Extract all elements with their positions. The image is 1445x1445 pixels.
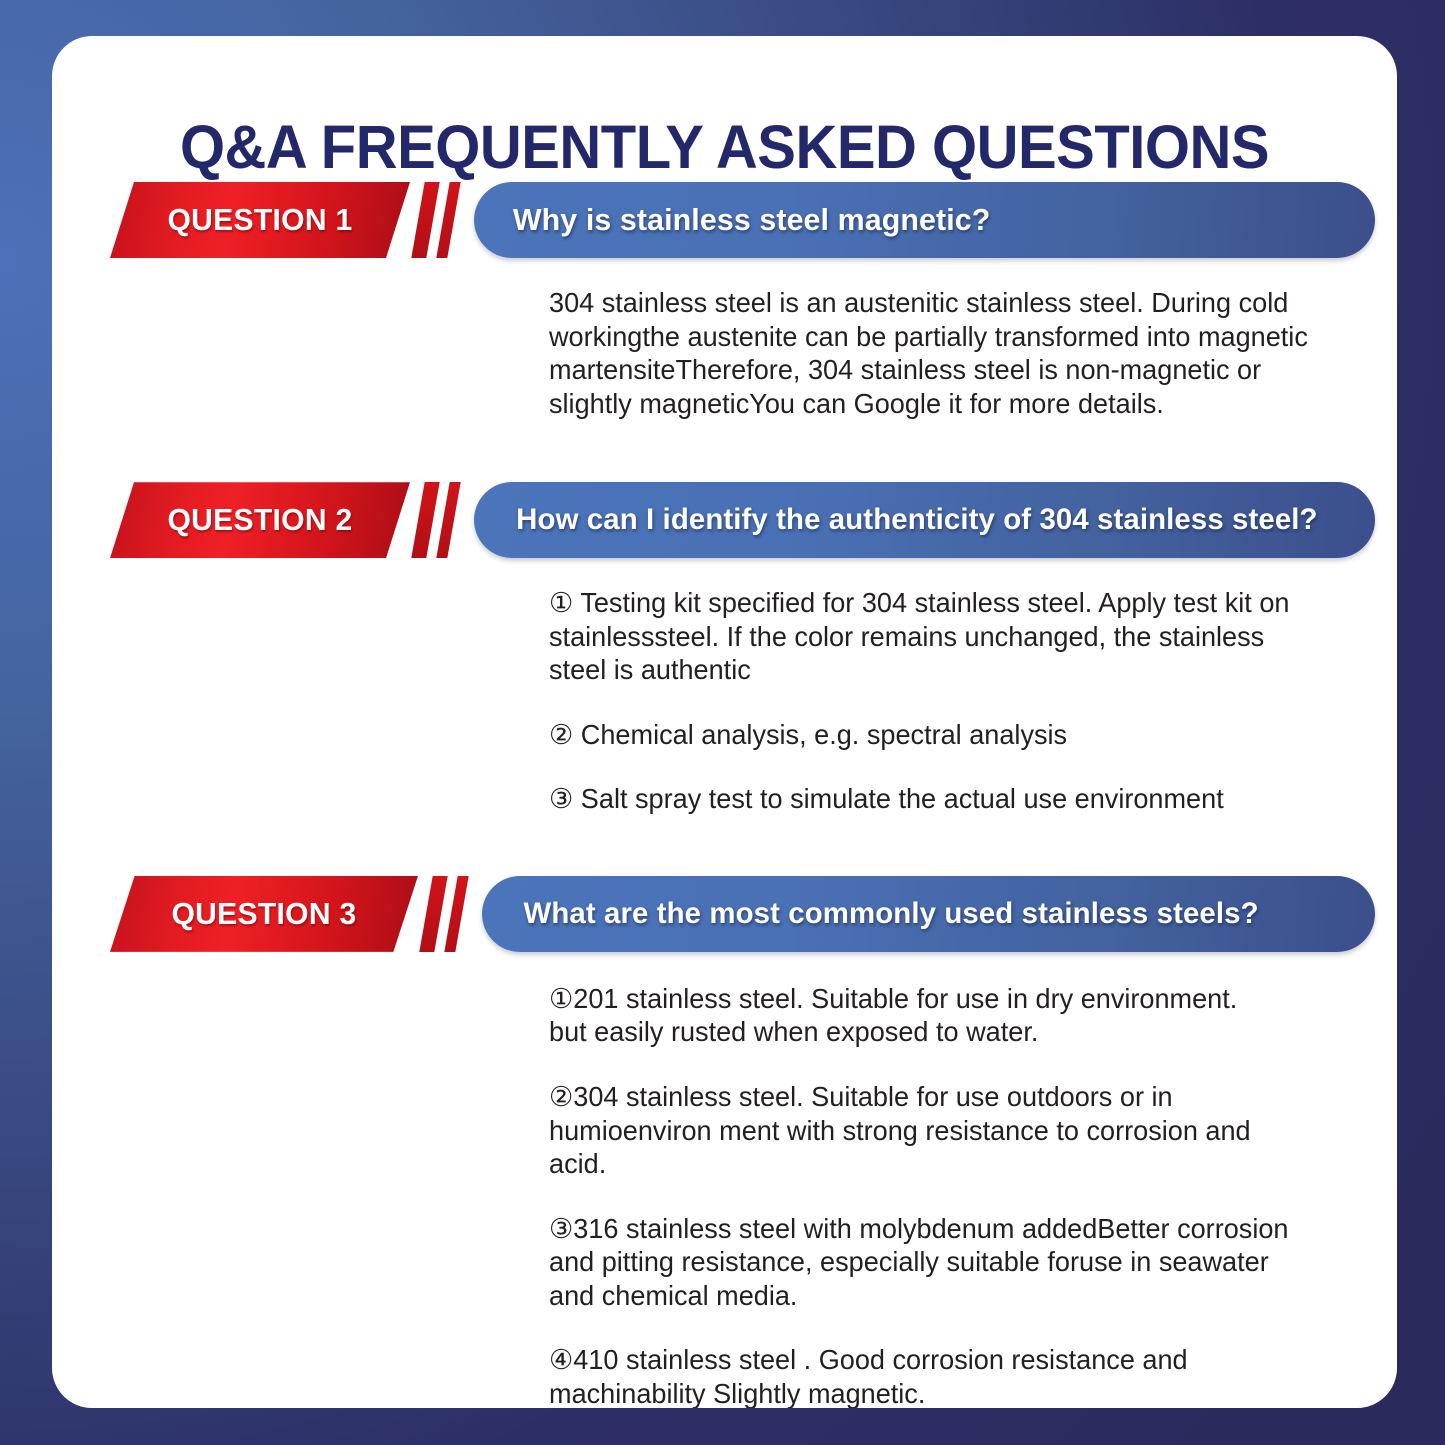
question-tag-label-3: QUESTION 3 — [115, 876, 414, 952]
answer-paragraph: ① Testing kit specified for 304 stainles… — [549, 586, 1315, 687]
page-title: Q&A FREQUENTLY ASKED QUESTIONS — [86, 112, 1364, 182]
answer-paragraph: ③ Salt spray test to simulate the actual… — [549, 782, 1315, 816]
slash-stroke-1 — [419, 876, 447, 952]
faq-header-1: QUESTION 1 Why is stainless steel magnet… — [52, 182, 1397, 260]
answer-body-2: ① Testing kit specified for 304 stainles… — [549, 586, 1315, 816]
answer-body-3: ①201 stainless steel. Suitable for use i… — [549, 982, 1315, 1408]
faq-item-3: QUESTION 3 What are the most commonly us… — [52, 876, 1397, 1408]
faq-header-2: QUESTION 2 How can I identify the authen… — [52, 482, 1397, 560]
answer-paragraph: ④410 stainless steel . Good corrosion re… — [549, 1343, 1315, 1408]
question-tag-label-2: QUESTION 2 — [115, 482, 406, 558]
faq-card: Q&A FREQUENTLY ASKED QUESTIONS QUESTION … — [52, 36, 1397, 1408]
faq-item-1: QUESTION 1 Why is stainless steel magnet… — [52, 182, 1397, 420]
page-background: Q&A FREQUENTLY ASKED QUESTIONS QUESTION … — [0, 0, 1445, 1445]
double-slash-icon-1 — [402, 182, 464, 258]
answer-paragraph: but easily rusted when exposed to water. — [549, 1015, 1315, 1049]
slash-stroke-2 — [436, 482, 460, 558]
slash-stroke-1 — [411, 482, 439, 558]
question-text-2: How can I identify the authenticity of 3… — [516, 503, 1317, 537]
answer-paragraph: ② Chemical analysis, e.g. spectral analy… — [549, 718, 1315, 752]
question-bar-1: Why is stainless steel magnetic? — [474, 182, 1375, 258]
question-tag-1: QUESTION 1 — [110, 182, 410, 258]
answer-paragraph: ③316 stainless steel with molybdenum add… — [549, 1212, 1315, 1313]
slash-stroke-1 — [411, 182, 439, 258]
answer-paragraph: ②304 stainless steel. Suitable for use o… — [549, 1080, 1315, 1181]
double-slash-icon-2 — [402, 482, 464, 558]
faq-item-2: QUESTION 2 How can I identify the authen… — [52, 482, 1397, 816]
question-tag-2: QUESTION 2 — [110, 482, 410, 558]
slash-stroke-2 — [436, 182, 460, 258]
answer-paragraph: ①201 stainless steel. Suitable for use i… — [549, 982, 1315, 1016]
question-tag-label-1: QUESTION 1 — [115, 182, 406, 258]
double-slash-icon-3 — [410, 876, 472, 952]
question-text-1: Why is stainless steel magnetic? — [513, 202, 991, 238]
faq-header-3: QUESTION 3 What are the most commonly us… — [52, 876, 1397, 954]
answer-paragraph: 304 stainless steel is an austenitic sta… — [549, 286, 1315, 420]
answer-body-1: 304 stainless steel is an austenitic sta… — [549, 286, 1315, 420]
question-text-3: What are the most commonly used stainles… — [524, 897, 1259, 931]
question-bar-3: What are the most commonly used stainles… — [482, 876, 1375, 952]
slash-stroke-2 — [444, 876, 468, 952]
question-tag-3: QUESTION 3 — [110, 876, 418, 952]
question-bar-2: How can I identify the authenticity of 3… — [474, 482, 1375, 558]
